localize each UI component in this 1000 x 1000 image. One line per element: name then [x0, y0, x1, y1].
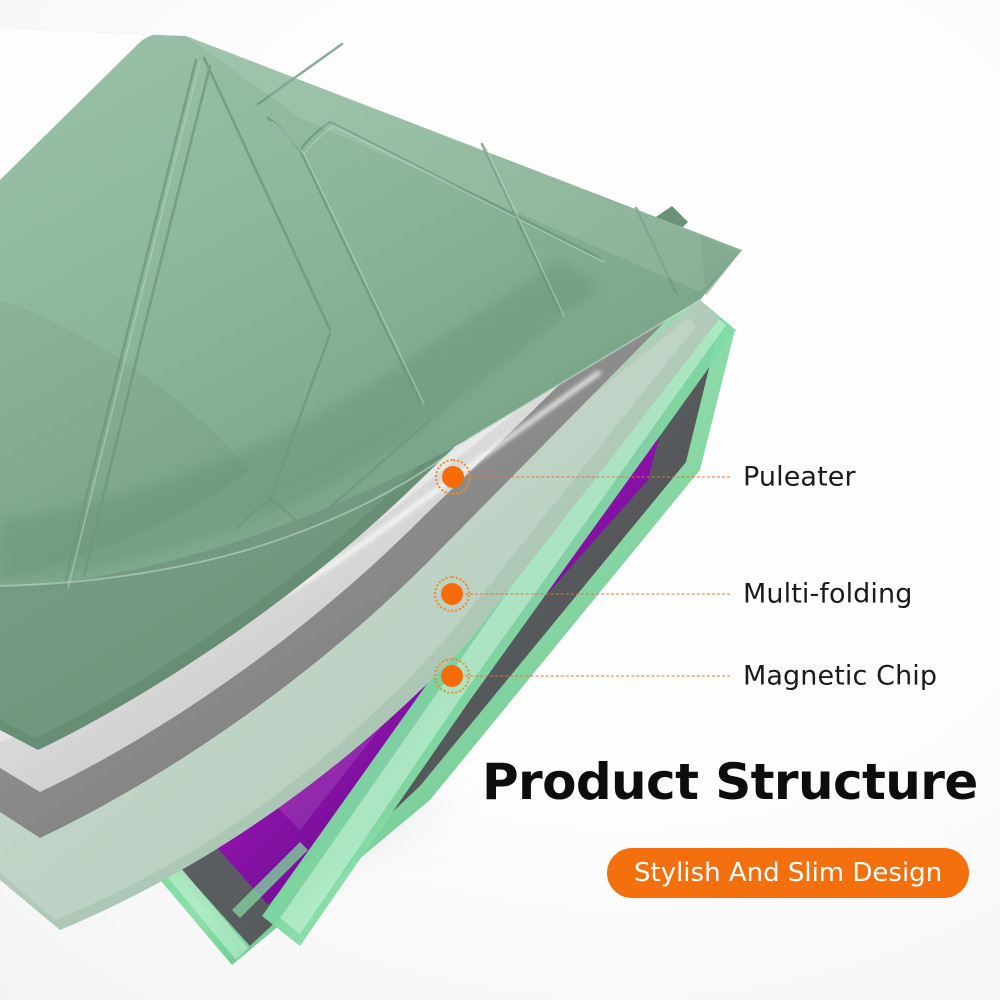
product-infographic: Puleater Multi-folding Magnetic Chip Pro…: [0, 0, 1000, 1000]
callout-label-puleater: Puleater: [743, 462, 856, 493]
marker-dot-magnetic-chip[interactable]: [441, 665, 463, 687]
tagline-badge: Stylish And Slim Design: [607, 848, 969, 898]
marker-dot-puleater[interactable]: [442, 466, 464, 488]
leader-line-multi-folding: [465, 594, 730, 595]
marker-core: [441, 583, 463, 605]
callout-label-multi-folding: Multi-folding: [743, 579, 912, 610]
page-title: Product Structure: [482, 753, 978, 811]
callout-label-magnetic-chip: Magnetic Chip: [743, 661, 937, 692]
marker-core: [441, 665, 463, 687]
marker-dot-multi-folding[interactable]: [441, 583, 463, 605]
marker-core: [442, 466, 464, 488]
leader-line-magnetic-chip: [465, 676, 730, 677]
leader-line-puleater: [466, 477, 730, 478]
